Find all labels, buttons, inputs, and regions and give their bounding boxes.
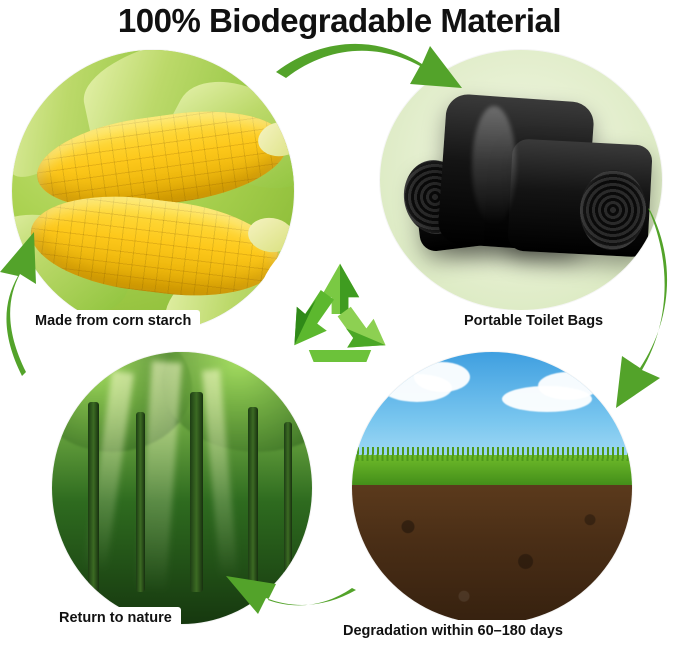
tree-trunk [284, 422, 292, 592]
caption-made-from-corn-starch: Made from corn starch [26, 310, 200, 335]
center-recycle-badge [259, 233, 421, 395]
soil-layer [352, 485, 632, 624]
sunlit-forest-photo [52, 352, 312, 624]
recycle-icon [280, 254, 400, 374]
caption-return-to-nature: Return to nature [50, 607, 181, 632]
black-bag-rolls-photo [380, 50, 662, 310]
biodegradable-material-infographic: 100% Biodegradable Material [0, 0, 679, 657]
page-title: 100% Biodegradable Material [0, 2, 679, 40]
cloud [414, 362, 470, 392]
caption-portable-toilet-bags: Portable Toilet Bags [455, 310, 612, 335]
tree-trunk [88, 402, 99, 592]
tree-trunk [190, 392, 203, 592]
grass-layer [352, 455, 632, 488]
soil-and-grass-photo [352, 352, 632, 624]
bag-roll-highlight [472, 106, 516, 226]
cloud [538, 372, 598, 400]
corn-cobs-photo [12, 50, 294, 332]
tree-trunk [136, 412, 145, 592]
caption-degradation-days: Degradation within 60–180 days [334, 620, 572, 645]
tree-trunk [248, 407, 258, 597]
